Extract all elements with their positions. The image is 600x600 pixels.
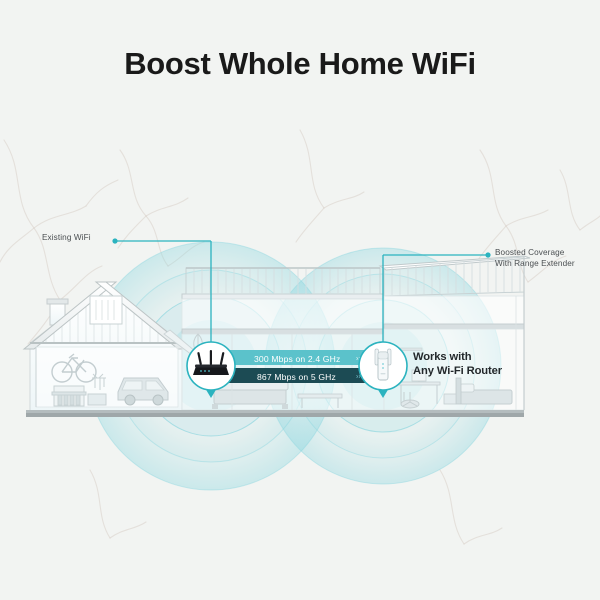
speed-bar-2-4ghz-text: 300 Mbps on 2.4 GHz — [254, 354, 340, 364]
speed-bar-5ghz-text: 867 Mbps on 5 GHz — [257, 372, 336, 382]
wifi-coverage-infographic: ‹‹‹ ››› ‹‹‹ ››› — [0, 0, 600, 600]
existing-wifi-dot — [112, 238, 117, 243]
existing-wifi-label: Existing WiFi — [42, 233, 91, 242]
boosted-coverage-label: Boosted Coverage With Range Extender — [495, 247, 575, 269]
works-with-line1: Works with — [413, 351, 502, 365]
house-coverage-illustration: ‹‹‹ ››› ‹‹‹ ››› — [0, 0, 600, 600]
page-title: Boost Whole Home WiFi — [0, 47, 600, 81]
boosted-coverage-line2: With Range Extender — [495, 258, 575, 269]
boosted-coverage-line1: Boosted Coverage — [495, 247, 575, 258]
storage-shelf — [52, 386, 86, 406]
boosted-coverage-dot — [485, 252, 490, 257]
works-with-line2: Any Wi-Fi Router — [413, 365, 502, 379]
works-with-label: Works with Any Wi-Fi Router — [413, 351, 502, 378]
